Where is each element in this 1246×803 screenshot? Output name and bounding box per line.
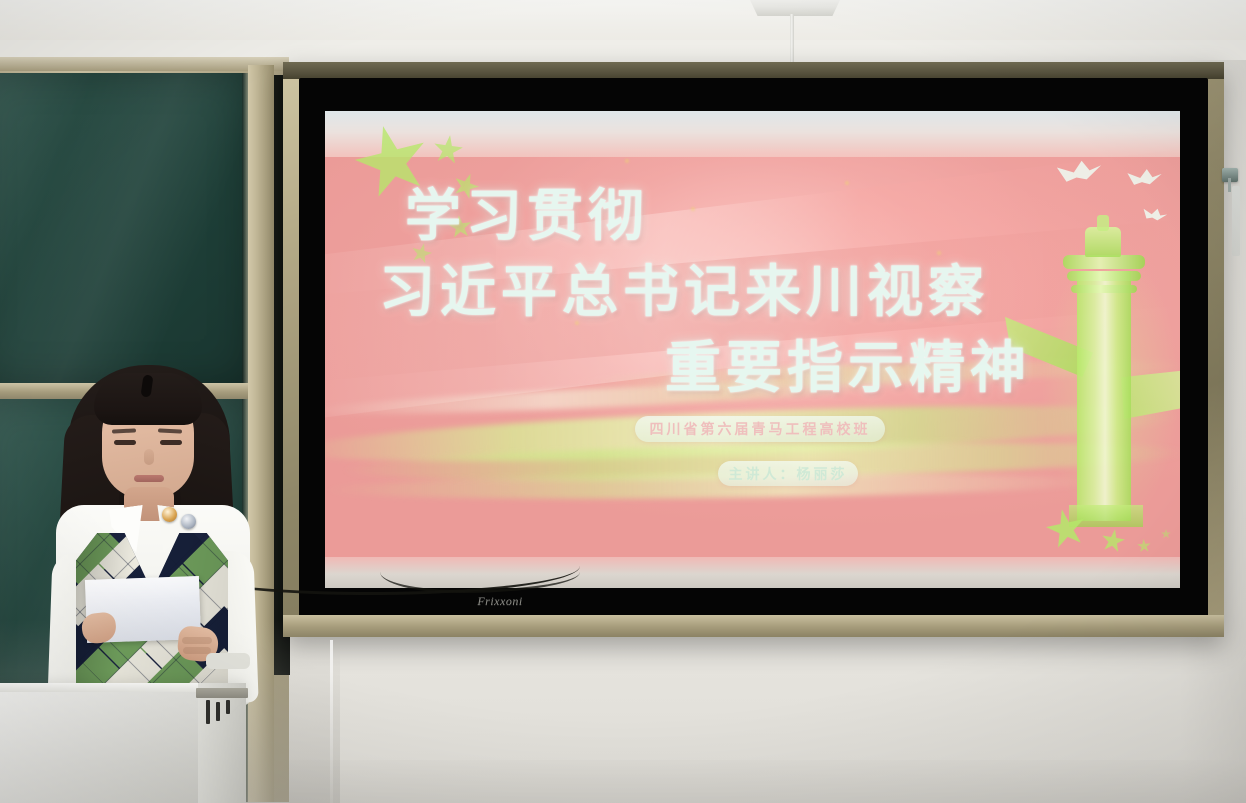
lectern-vent-slot xyxy=(216,702,220,721)
lectern-vent-slot xyxy=(226,700,230,714)
sparkle-icon xyxy=(691,207,695,211)
blackboard-glare xyxy=(0,73,248,383)
display-bezel-top xyxy=(283,62,1224,79)
wall-trim-strip xyxy=(1232,186,1240,256)
monument-ring xyxy=(1063,255,1145,269)
lectern-metal-trim xyxy=(196,688,248,698)
finger xyxy=(182,637,212,644)
shirt-cuff-right xyxy=(206,653,250,669)
monument-ring xyxy=(1067,271,1141,281)
interactive-display[interactable]: 学习贯彻 习近平总书记来川视察 重要指示精神 四川省第六届青马工程高校班 主讲人… xyxy=(283,62,1224,637)
speaker-figure xyxy=(20,355,280,700)
monument-cap xyxy=(1085,227,1121,257)
sparkle-icon xyxy=(845,181,849,185)
eye-left xyxy=(114,440,136,445)
slide-speaker-badge: 主讲人：杨丽莎 xyxy=(718,461,858,486)
star-icon xyxy=(1137,539,1152,554)
star-icon xyxy=(449,169,482,202)
monument-graphic xyxy=(1011,209,1180,539)
nose xyxy=(144,449,154,465)
classroom-scene: 学习贯彻 习近平总书记来川视察 重要指示精神 四川省第六届青马工程高校班 主讲人… xyxy=(0,0,1246,803)
sparkle-icon xyxy=(755,271,759,275)
ceiling-speaker-icon xyxy=(743,0,847,16)
lapel-pin-gold-icon xyxy=(162,507,177,522)
mouth xyxy=(134,475,164,482)
display-bezel-bottom xyxy=(283,615,1224,637)
finger xyxy=(183,647,211,654)
slide-course-badge: 四川省第六届青马工程高校班 xyxy=(635,416,885,442)
monument-base xyxy=(1069,505,1143,527)
monument-tip xyxy=(1097,215,1109,231)
display-brand-logo: Frixxoni xyxy=(440,594,560,612)
sparkle-icon xyxy=(937,251,941,255)
eye-right xyxy=(160,440,182,445)
monument-ring xyxy=(1071,285,1137,293)
blackboard-panel-upper xyxy=(0,73,248,383)
lectern-vent-slot xyxy=(206,700,210,724)
wall-seam xyxy=(330,640,333,803)
monument-shaft xyxy=(1077,271,1131,521)
sparkle-icon xyxy=(575,321,579,325)
sparkle-icon xyxy=(625,159,629,163)
lapel-pin-silver-icon xyxy=(181,514,196,529)
presentation-slide[interactable]: 学习贯彻 习近平总书记来川视察 重要指示精神 四川省第六届青马工程高校班 主讲人… xyxy=(325,111,1180,588)
lectern-front-shading xyxy=(0,683,203,803)
wall-sensor-stem xyxy=(1228,178,1231,192)
blackboard-top-rail xyxy=(0,57,289,71)
